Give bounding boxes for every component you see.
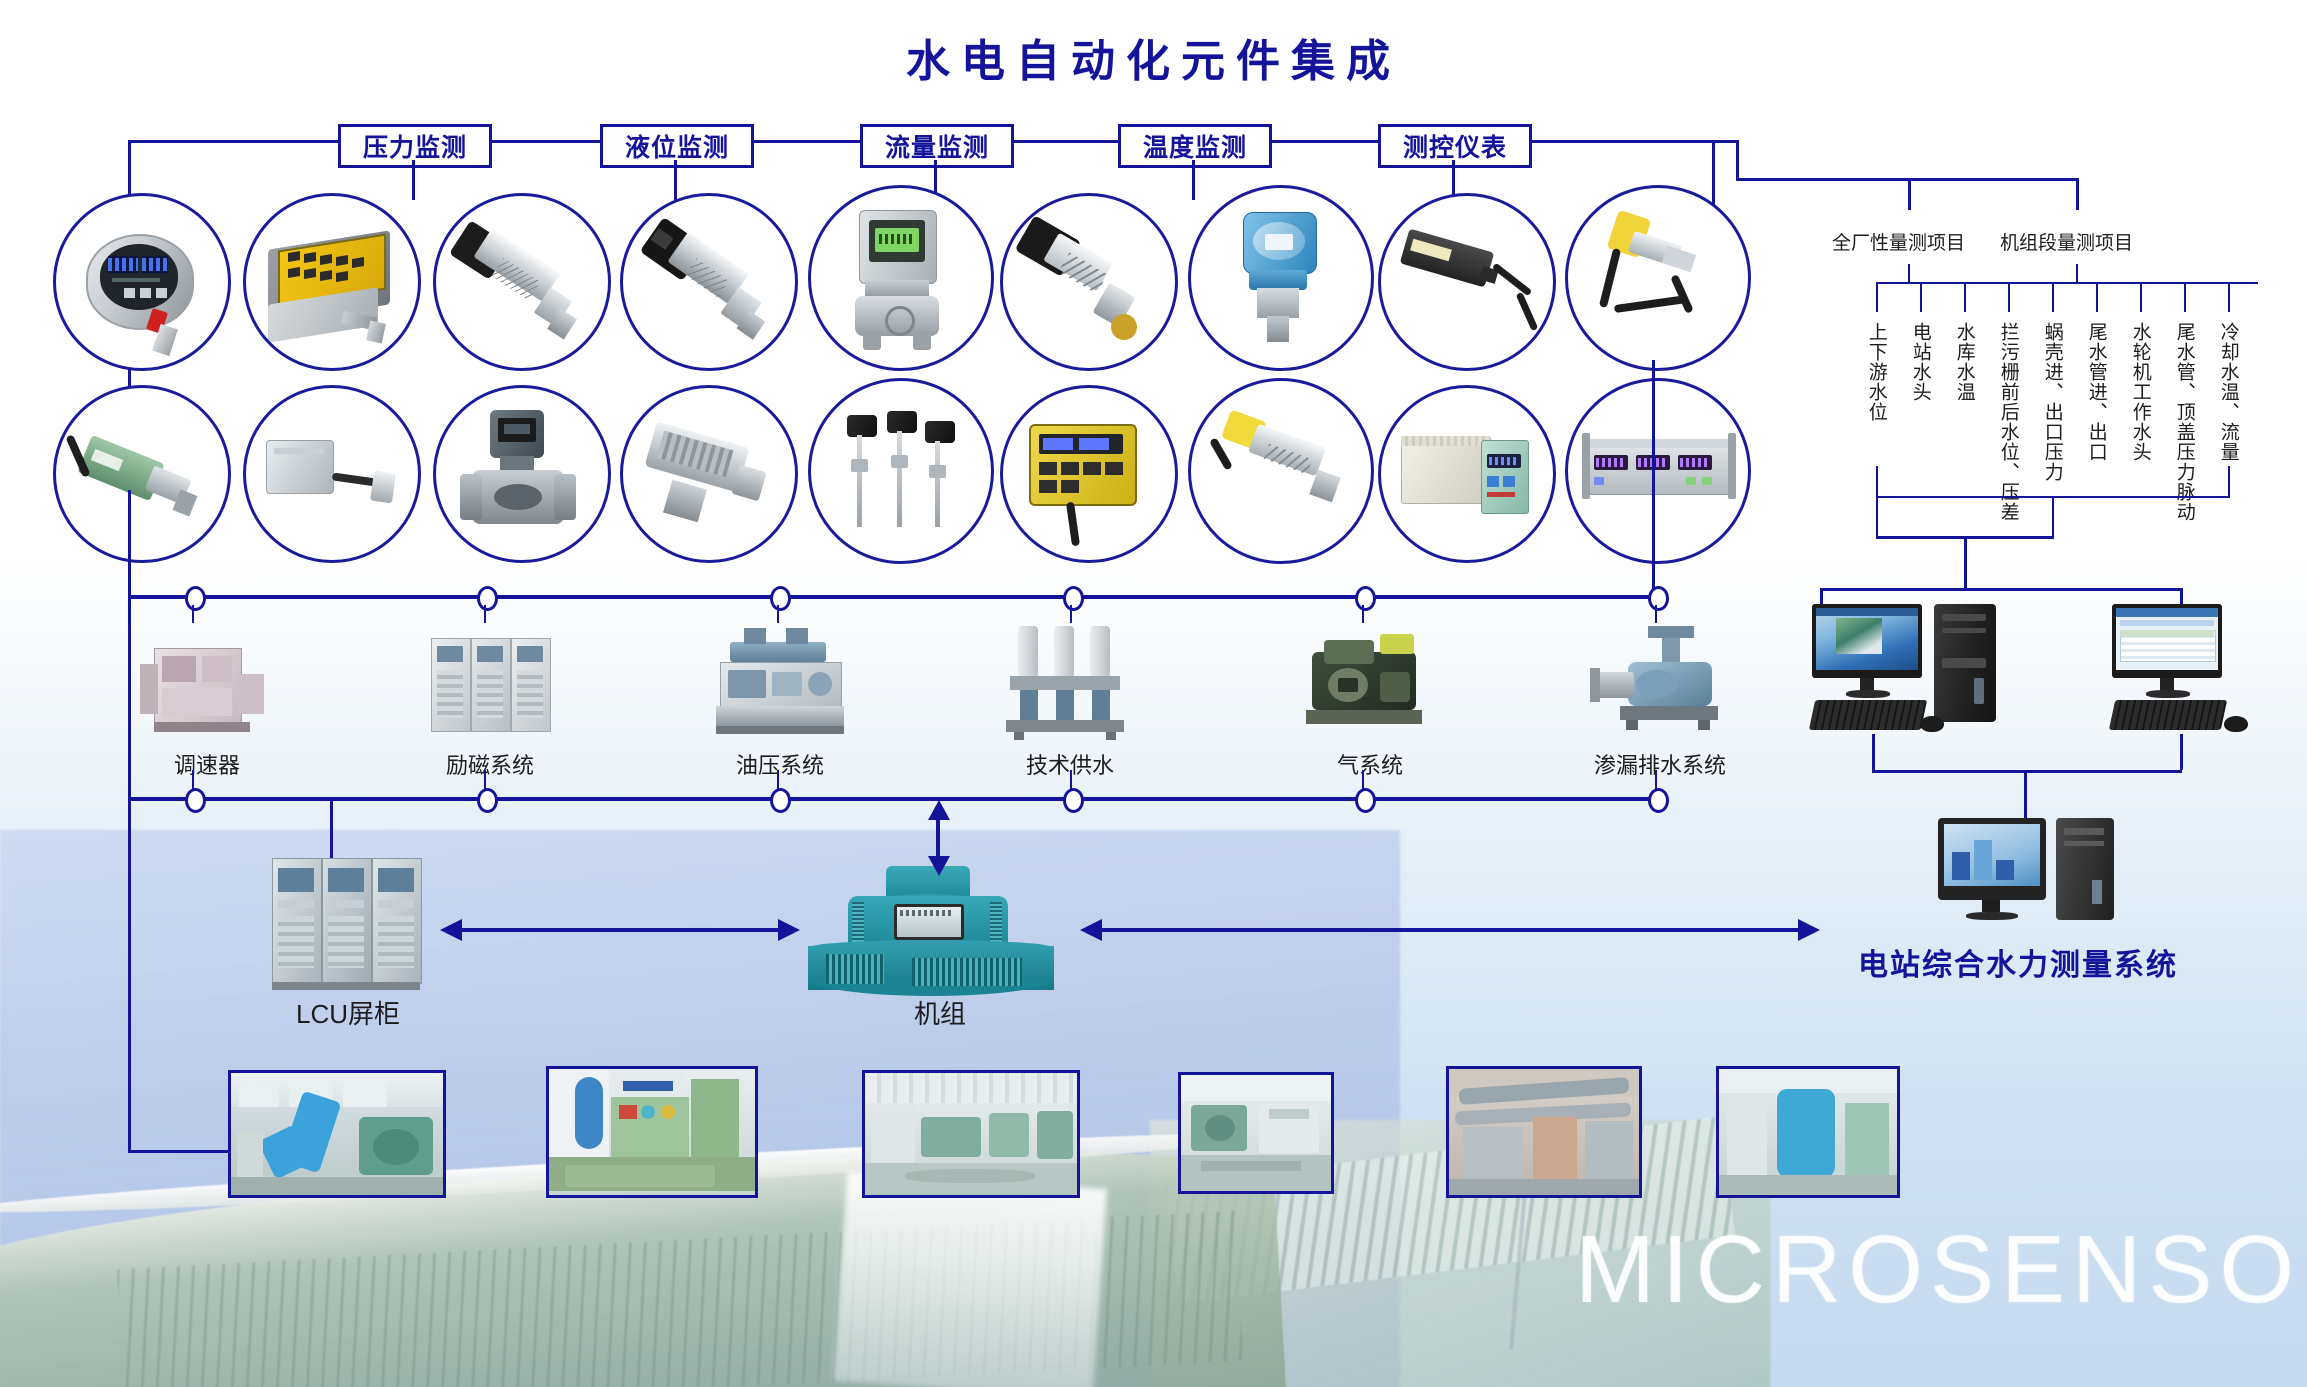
equipment-leakage-drainage-icon (1590, 626, 1724, 740)
bus-node-6 (185, 788, 206, 813)
site-photo-5[interactable] (1716, 1066, 1900, 1198)
bus-node-9 (1063, 788, 1084, 813)
category-label-0: 压力监测 (363, 128, 467, 164)
yellow-panel-pressure-switch-icon (246, 196, 418, 368)
submersible-level-probe-yellow-icon (1568, 188, 1748, 368)
product-circle-9[interactable] (53, 385, 231, 563)
product-circle-14[interactable] (1000, 385, 1178, 563)
system-label-5: 渗漏排水系统 (1530, 748, 1790, 780)
category-box-0[interactable]: 压力监测 (338, 124, 492, 168)
measure-item-0: 上下游水位 (1866, 322, 1886, 422)
handheld-level-gauge-icon (1191, 381, 1371, 561)
category-label-1: 液位监测 (625, 128, 729, 164)
mid-bus-line (128, 595, 1656, 599)
measure-item-7: 尾水管、顶盖压力脉动 (2174, 322, 2194, 522)
measure-item-8: 冷却水温、流量 (2218, 322, 2238, 462)
inline-level-sensor-cable-icon (1381, 196, 1553, 368)
product-circle-2[interactable] (433, 193, 611, 371)
product-circle-1[interactable] (243, 193, 421, 371)
bus-node-10 (1355, 788, 1376, 813)
cable-junction-transmitter-icon (56, 388, 228, 560)
hydraulic-system-label: 电站综合水力测量系统 (1858, 940, 2178, 984)
measure-item-2: 水库水温 (1954, 322, 1974, 402)
pressure-transmitter-din-icon (623, 196, 795, 368)
digital-pressure-controller-icon (56, 196, 228, 368)
lcu-cabinet-icon (272, 858, 424, 986)
product-circle-10[interactable] (243, 385, 421, 563)
differential-pressure-transmitter-icon (811, 188, 991, 368)
tree-group-heading-0: 全厂性量测项目 (1832, 228, 1965, 255)
equipment-air-system-icon (1300, 628, 1430, 740)
site-photo-2[interactable] (862, 1070, 1080, 1198)
blue-explosion-proof-transmitter-icon (1191, 188, 1371, 368)
category-box-3[interactable]: 温度监测 (1118, 124, 1272, 168)
unit-label: 机组 (840, 994, 1040, 1031)
measure-item-3: 拦污栅前后水位、压差 (1998, 322, 2018, 522)
product-circle-8[interactable] (1565, 185, 1751, 371)
measure-item-1: 电站水头 (1910, 322, 1930, 402)
site-photo-3[interactable] (1178, 1072, 1334, 1194)
bus-node-2 (770, 586, 791, 611)
product-circle-16[interactable] (1378, 385, 1556, 563)
level-sensor-with-box-icon (246, 388, 418, 560)
bus-node-0 (185, 586, 206, 611)
system-label-2: 油压系统 (650, 748, 910, 780)
measure-item-4: 蜗壳进、出口压力 (2042, 322, 2062, 482)
brand-watermark: MICROSENSOR (1575, 1215, 2307, 1325)
measure-item-6: 水轮机工作水头 (2130, 322, 2150, 462)
product-circle-0[interactable] (53, 193, 231, 371)
system-label-4: 气系统 (1240, 748, 1500, 780)
site-photo-4[interactable] (1446, 1066, 1642, 1198)
system-label-1: 励磁系统 (360, 748, 620, 780)
category-label-2: 流量监测 (885, 128, 989, 164)
equipment-governor-icon (140, 630, 270, 740)
level-transmitter-probe-icon (1003, 196, 1175, 368)
diagram-canvas: MICROSENSOR 水电自动化元件集成 压力监测 液位监测 流量监测 温度监… (0, 0, 2307, 1387)
category-label-4: 测控仪表 (1403, 128, 1507, 164)
workstation-data[interactable] (2112, 604, 2302, 764)
bus-node-8 (770, 788, 791, 813)
product-circle-7[interactable] (1378, 193, 1556, 371)
equipment-technical-water-icon (1000, 626, 1130, 740)
product-circle-4[interactable] (808, 185, 994, 371)
bus-node-3 (1063, 586, 1084, 611)
temperature-probe-pt100-icon (811, 381, 991, 561)
equipment-oil-pressure-icon (710, 628, 850, 740)
category-box-2[interactable]: 流量监测 (860, 124, 1014, 168)
hydraulic-measurement-server[interactable] (1938, 818, 2128, 936)
equipment-excitation-icon (425, 628, 555, 740)
temperature-controller-box-icon (1003, 388, 1175, 560)
bus-node-4 (1355, 586, 1376, 611)
measure-item-5: 尾水管进、出口 (2086, 322, 2106, 462)
turbine-unit-icon (790, 866, 1090, 998)
lower-bus-line (128, 797, 1656, 801)
product-circle-15[interactable] (1188, 378, 1374, 564)
product-circle-13[interactable] (808, 378, 994, 564)
product-circle-17[interactable] (1565, 378, 1751, 564)
tree-group-heading-1: 机组段量测项目 (2000, 228, 2133, 255)
product-circle-12[interactable] (620, 385, 798, 563)
bus-node-7 (477, 788, 498, 813)
turbine-flow-sensor-icon (623, 388, 795, 560)
category-label-3: 温度监测 (1143, 128, 1247, 164)
site-photo-1[interactable] (546, 1066, 758, 1198)
site-photo-0[interactable] (228, 1070, 446, 1198)
product-circle-3[interactable] (620, 193, 798, 371)
lcu-label: LCU屏柜 (238, 994, 458, 1031)
rack-mount-instrument-icon (1568, 381, 1748, 561)
system-label-0: 调速器 (82, 748, 332, 780)
bus-node-11 (1648, 788, 1669, 813)
category-box-4[interactable]: 测控仪表 (1378, 124, 1532, 168)
workstation-monitoring[interactable] (1812, 604, 2062, 764)
category-box-1[interactable]: 液位监测 (600, 124, 754, 168)
product-circle-11[interactable] (433, 385, 611, 563)
electromagnetic-flowmeter-icon (436, 388, 608, 560)
bus-node-1 (477, 586, 498, 611)
bus-node-5 (1648, 586, 1669, 611)
pressure-transmitter-black-cap-icon (436, 196, 608, 368)
product-circle-5[interactable] (1000, 193, 1178, 371)
product-circle-6[interactable] (1188, 185, 1374, 371)
page-title: 水电自动化元件集成 (0, 25, 2307, 89)
panel-meter-instrument-icon (1381, 388, 1553, 560)
